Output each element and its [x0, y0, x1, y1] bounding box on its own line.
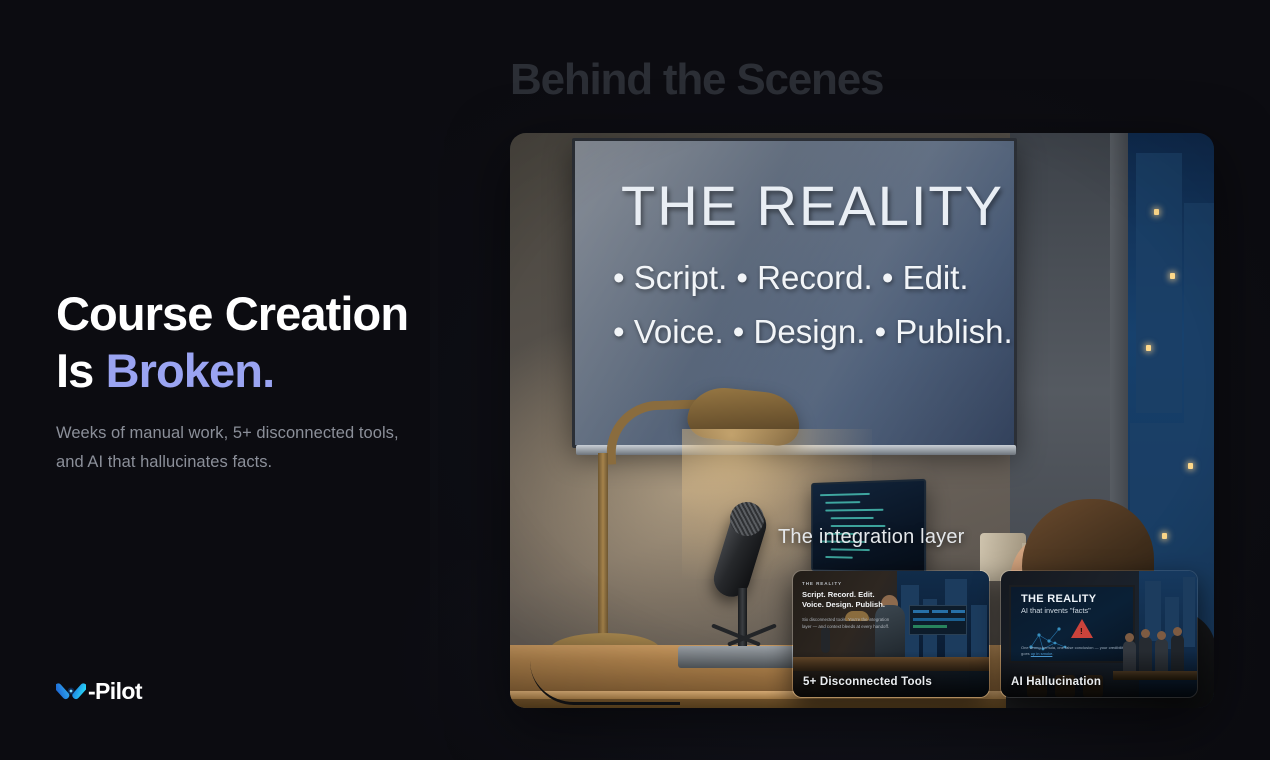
page-title: Course Creation Is Broken. — [56, 285, 486, 400]
page-root: Course Creation Is Broken. Weeks of manu… — [0, 0, 1270, 760]
thumb1-heading-line-2: Voice. Design. Publish. — [802, 600, 885, 609]
thumb2-slide-title: THE REALITY — [1021, 593, 1096, 605]
thumbnail-row: THE REALITY Script. Record. Edit. Voice.… — [792, 570, 1198, 698]
thumbnail-card-disconnected-tools[interactable]: THE REALITY Script. Record. Edit. Voice.… — [792, 570, 990, 698]
external-drive — [678, 646, 796, 668]
image-caption: The integration layer — [778, 526, 965, 549]
subtitle-line-2: and AI that hallucinates facts. — [56, 453, 272, 471]
headline-line-2-accent: Broken. — [106, 344, 275, 397]
warning-exclamation: ! — [1080, 628, 1083, 636]
thumb1-label-scrim — [793, 651, 989, 697]
headline-line-2-plain: Is — [56, 344, 106, 397]
behind-the-scenes-image[interactable]: THE REALITY • Script. • Record. • Edit. … — [510, 133, 1214, 708]
thumbnail-label-disconnected-tools: 5+ Disconnected Tools — [803, 676, 932, 688]
brand-logo[interactable]: -Pilot — [56, 676, 142, 706]
thumbnail-label-ai-hallucination: AI Hallucination — [1011, 676, 1101, 688]
thumb2-slide-subtitle: AI that invents "facts" — [1021, 606, 1091, 615]
thumb1-microphone — [821, 627, 830, 653]
whiteboard: THE REALITY • Script. • Record. • Edit. … — [572, 138, 1017, 448]
hero-text-column: Course Creation Is Broken. Weeks of manu… — [56, 0, 476, 760]
thumb1-heading: Script. Record. Edit. Voice. Design. Pub… — [802, 590, 894, 611]
thumb2-label-scrim — [1001, 651, 1197, 697]
thumb1-body-text: Six disconnected tools. You're the integ… — [802, 616, 894, 630]
power-cable — [530, 661, 680, 705]
thumb1-overlay-text: THE REALITY Script. Record. Edit. Voice.… — [802, 581, 894, 630]
headline-line-1: Course Creation — [56, 287, 408, 340]
thumb1-eyebrow: THE REALITY — [802, 581, 894, 586]
thumb1-heading-line-1: Script. Record. Edit. — [802, 590, 875, 599]
whiteboard-title: THE REALITY — [621, 173, 1004, 238]
thumb1-monitor — [909, 605, 967, 635]
whiteboard-bullet-line-1: • Script. • Record. • Edit. — [613, 259, 969, 297]
desk-lamp-stem — [598, 453, 608, 643]
whiteboard-bullet-line-2: • Voice. • Design. • Publish. — [613, 313, 1013, 351]
x-pilot-x-mark-icon — [56, 676, 86, 706]
page-subtitle: Weeks of manual work, 5+ disconnected to… — [56, 419, 471, 477]
subtitle-line-1: Weeks of manual work, 5+ disconnected to… — [56, 424, 399, 442]
thumbnail-card-ai-hallucination[interactable]: THE REALITY AI that invents "facts" — [1000, 570, 1198, 698]
section-heading: Behind the Scenes — [510, 55, 883, 105]
studio-scene-illustration: THE REALITY • Script. • Record. • Edit. … — [510, 133, 1214, 708]
brand-logo-text: -Pilot — [88, 678, 142, 705]
